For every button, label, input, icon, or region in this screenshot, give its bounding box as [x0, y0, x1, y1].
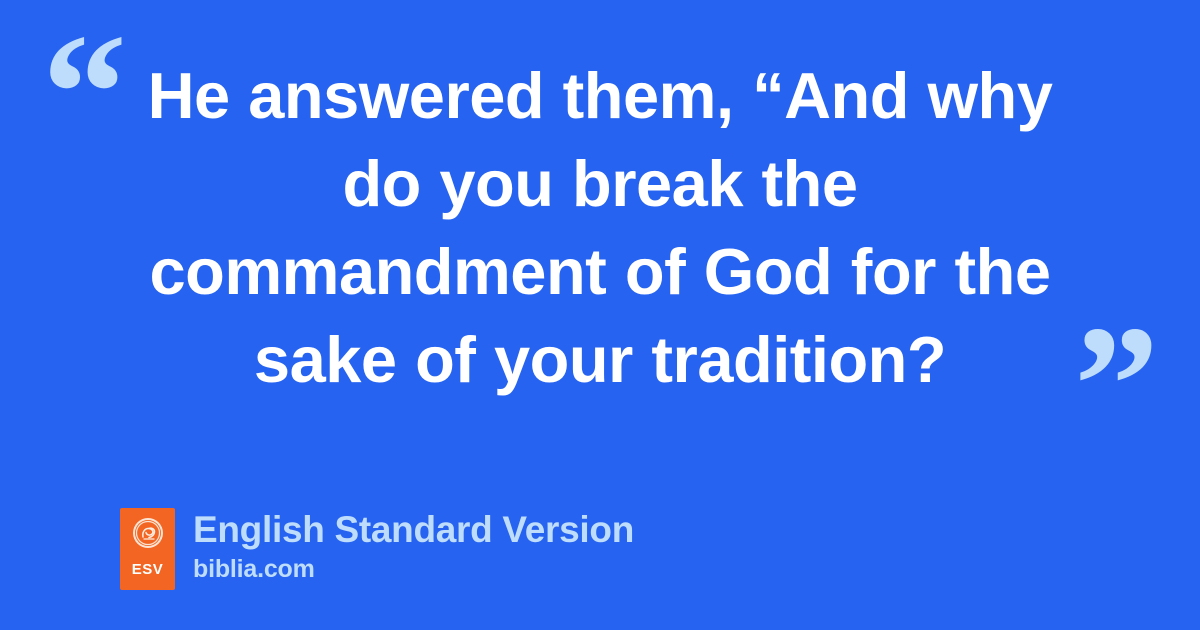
bible-version-name: English Standard Version	[193, 508, 634, 552]
esv-logo: ESV	[120, 508, 175, 590]
site-url[interactable]: biblia.com	[193, 554, 634, 584]
esv-seal-icon	[132, 517, 164, 549]
closing-quote-icon: ”	[1074, 300, 1157, 470]
quote-block: He answered them, “And why do you break …	[60, 52, 1140, 404]
footer-text-group: English Standard Version biblia.com	[193, 508, 634, 584]
attribution-footer: ESV English Standard Version biblia.com	[120, 508, 634, 590]
quote-card: “ He answered them, “And why do you brea…	[0, 0, 1200, 630]
esv-abbreviation: ESV	[132, 562, 164, 577]
quote-text: He answered them, “And why do you break …	[60, 52, 1140, 404]
